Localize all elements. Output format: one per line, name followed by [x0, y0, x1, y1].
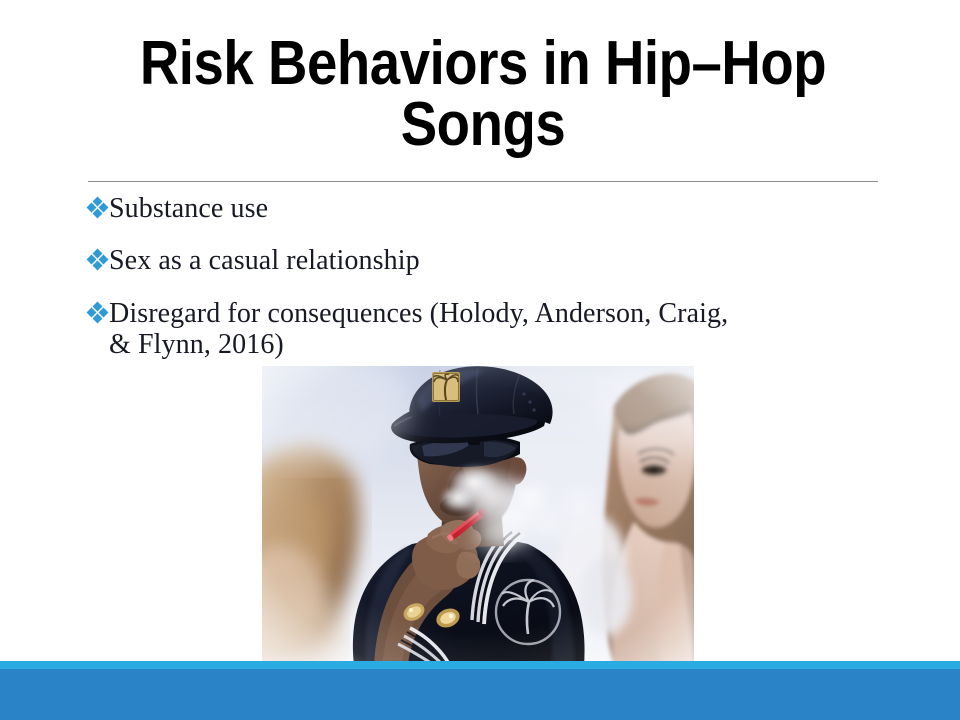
list-item-label: Sex as a casual relationship [109, 245, 420, 276]
slide-photo [262, 366, 694, 666]
list-item: Substance use [88, 193, 748, 224]
diamond-cluster-bullet-icon [88, 249, 108, 278]
accent-bar-light [0, 661, 960, 669]
list-item: Disregard for consequences (Holody, Ande… [88, 298, 748, 361]
bullet-list: Substance use Sex as a casual relationsh… [88, 193, 748, 360]
title-block: Risk Behaviors in Hip–Hop Songs [88, 34, 878, 156]
list-item: Sex as a casual relationship [88, 245, 748, 276]
list-item-label: Substance use [109, 193, 268, 224]
page-title: Risk Behaviors in Hip–Hop Songs [135, 34, 830, 156]
diamond-cluster-bullet-icon [88, 197, 108, 226]
diamond-cluster-bullet-icon [88, 302, 108, 331]
list-item-label: Disregard for consequences (Holody, Ande… [109, 298, 748, 361]
accent-bar-dark [0, 669, 960, 720]
presentation-slide: Risk Behaviors in Hip–Hop Songs Substanc… [0, 0, 960, 720]
title-divider [88, 181, 878, 182]
